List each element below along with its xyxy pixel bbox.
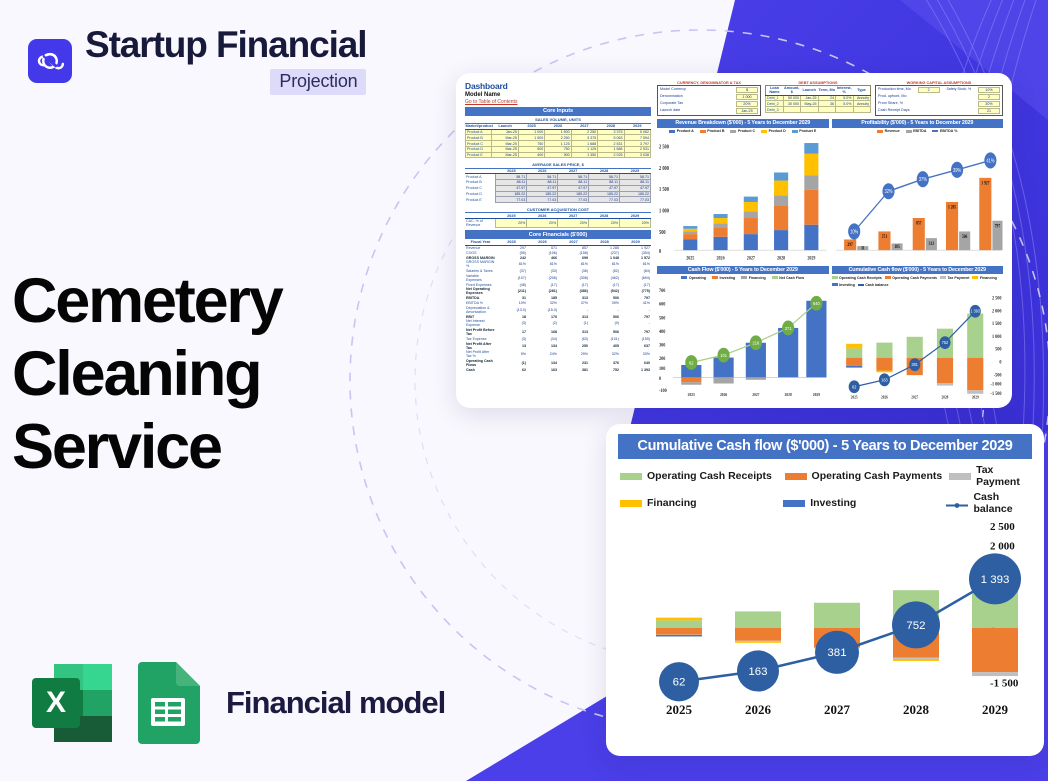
brand-header: Startup Financial Projection	[28, 26, 366, 95]
svg-text:2029: 2029	[971, 396, 978, 400]
legend-swatch	[949, 473, 971, 480]
svg-text:381: 381	[911, 362, 918, 367]
dashboard-charts-column: CURRENCY, DENOMINATOR & TAX Model Curren…	[657, 81, 1003, 400]
assumption-label: Launch date	[660, 108, 680, 114]
legend-item: Product B	[700, 129, 725, 133]
assumption-value[interactable]: 10%	[978, 87, 1000, 93]
svg-text:2025: 2025	[686, 256, 695, 262]
table-row: Product E 77.03 77.03 77.03 77.03 77.03	[465, 197, 651, 203]
svg-text:2 500: 2 500	[990, 522, 1015, 533]
assumption-value[interactable]: 20%	[736, 101, 758, 107]
svg-text:297: 297	[847, 241, 853, 247]
chart-legend: Product A Product B Product C Product D …	[657, 128, 829, 135]
legend-swatch	[620, 500, 642, 507]
legend-item: Operating Cash Receipts	[832, 276, 882, 280]
google-sheets-icon	[132, 662, 204, 744]
svg-text:0: 0	[659, 377, 662, 382]
legend-item: Revenue	[877, 129, 899, 133]
title-line-1: Cemetery	[12, 266, 282, 336]
svg-text:700: 700	[659, 289, 666, 294]
dashboard-inputs-column: Dashboard Model Name Go to Table of Cont…	[465, 81, 651, 400]
chart-legend: Operating Investing Financing Net Cash F…	[657, 274, 829, 281]
svg-text:163: 163	[881, 377, 888, 382]
assumption-value[interactable]: 30%	[978, 101, 1000, 107]
col-head: Interest, %	[836, 86, 854, 96]
assumption-label: Safety Stock, %	[946, 87, 971, 93]
svg-text:31: 31	[860, 244, 864, 250]
svg-text:62: 62	[852, 384, 857, 389]
chart-title: Cumulative Cash flow ($'000) - 5 Years t…	[832, 266, 1004, 274]
svg-text:2028: 2028	[941, 396, 948, 400]
assumption-value[interactable]: $	[736, 87, 758, 93]
brand-logo-icon	[28, 39, 72, 83]
svg-text:200: 200	[659, 357, 666, 362]
svg-text:10%: 10%	[850, 228, 859, 235]
svg-text:300: 300	[659, 344, 666, 349]
svg-text:2025: 2025	[666, 703, 692, 717]
legend-item: Financing	[972, 276, 996, 280]
legend-item: Investing	[832, 283, 855, 287]
svg-text:1 927: 1 927	[981, 180, 990, 186]
brand-name: Startup Financial	[85, 26, 366, 64]
svg-text:2028: 2028	[785, 392, 792, 397]
svg-text:-100: -100	[659, 389, 667, 394]
svg-text:752: 752	[941, 340, 948, 345]
svg-text:0: 0	[999, 360, 1002, 365]
svg-text:2028: 2028	[777, 256, 786, 262]
svg-text:2025: 2025	[850, 396, 857, 400]
svg-text:2029: 2029	[813, 392, 820, 397]
cac-table: 2025 2026 2027 2028 2029 CAC, % of Reven…	[465, 213, 651, 228]
assumption-label: Prom Share, %	[878, 101, 903, 107]
table-row: GROSS MARGIN %81%81%81%81%81%	[465, 260, 651, 269]
assumption-value[interactable]: 21	[978, 108, 1000, 114]
assumption-label: Corporate Tax	[660, 101, 683, 107]
svg-text:500: 500	[659, 229, 666, 236]
svg-text:500: 500	[995, 347, 1002, 352]
mini-chart-revenue-breakdown[interactable]: Revenue Breakdown ($'000) - 5 Years to D…	[657, 119, 829, 263]
working-capital-box: Production time, Mo 2 Safety Stock, % 10…	[875, 85, 1003, 116]
table-row: Net Profit After Tax %5%24%29%32%33%	[465, 350, 651, 359]
svg-text:2 500: 2 500	[659, 143, 669, 150]
chart-legend: Operating Cash Receipts Operating Cash P…	[618, 459, 1032, 520]
svg-text:41%: 41%	[986, 157, 995, 164]
chart-title: Cumulative Cash flow ($'000) - 5 Years t…	[618, 434, 1032, 459]
svg-text:857: 857	[916, 220, 922, 226]
chart-plot: 700600500400 3002001000-100	[657, 281, 829, 400]
bar-group-2025	[656, 618, 702, 637]
table-row: Net Profit After Tax13134250405637	[465, 341, 651, 350]
legend-item: Operating	[681, 276, 705, 280]
table-row: Net Profit Before Tax17168313506797	[465, 328, 651, 337]
legend-item: EBITDA %	[932, 129, 957, 133]
legend-item: Product D	[761, 129, 786, 133]
svg-text:1 500: 1 500	[659, 186, 669, 193]
assumption-label: Cash Receipt Days	[878, 108, 910, 114]
average-price-table: 2025 2026 2027 2028 2029 Product A 58.71…	[465, 169, 651, 204]
svg-text:-1 000: -1 000	[990, 382, 1002, 387]
microsoft-excel-icon: X	[30, 662, 114, 744]
svg-text:752: 752	[906, 620, 925, 632]
svg-text:571: 571	[881, 233, 886, 239]
svg-text:797: 797	[994, 222, 1000, 228]
col-head: Amount, $	[783, 86, 801, 96]
svg-text:2027: 2027	[747, 256, 756, 262]
mini-chart-cumulative-cash-flow[interactable]: Cumulative Cash flow ($'000) - 5 Years t…	[832, 266, 1004, 400]
svg-text:640: 640	[813, 301, 820, 306]
svg-text:-1 500: -1 500	[990, 391, 1002, 396]
legend-swatch	[620, 473, 642, 480]
svg-text:101: 101	[720, 353, 727, 358]
legend-swatch	[783, 500, 805, 507]
legend-item: Investing	[712, 276, 735, 280]
sales-volume-title: SALES VOLUME, UNITS	[465, 117, 651, 124]
col-head: Type	[853, 86, 871, 96]
assumption-value[interactable]: 2	[918, 87, 940, 93]
svg-text:371: 371	[785, 326, 792, 331]
legend-item: EBITDA	[906, 129, 927, 133]
page-title: Cemetery Cleaning Service	[12, 265, 412, 484]
svg-text:1 393: 1 393	[981, 574, 1010, 586]
legend-item: Operating Cash Payments	[885, 276, 937, 280]
col-head: Launch	[801, 86, 819, 96]
svg-text:-500: -500	[993, 372, 1001, 377]
avg-price-title: AVERAGE SALES PRICE, $	[465, 161, 651, 168]
legend-item: Cash balance	[858, 283, 889, 287]
dashboard-model-name: Model Name	[465, 92, 651, 98]
table-row: Variable Expenses(107)(206)(308)(462)(69…	[465, 274, 651, 283]
legend-item-financing: Financing	[620, 491, 783, 515]
assumption-label: Production time, Mo	[878, 87, 911, 93]
chart-legend: Revenue EBITDA EBITDA %	[832, 128, 1004, 135]
chart-plot: 2 5002 0001 500 1 0005000	[657, 135, 829, 264]
chart-plot: 2 5002 0001 500 1 0005000 -500-1 000-1 5…	[832, 288, 1004, 400]
title-line-3: Service	[12, 412, 221, 482]
legend-item: Tax Payment	[940, 276, 969, 280]
svg-text:2026: 2026	[717, 256, 726, 262]
svg-text:313: 313	[928, 240, 933, 246]
assumption-value[interactable]: 2	[978, 94, 1000, 100]
svg-text:100: 100	[659, 367, 666, 372]
brand-subtitle: Projection	[270, 69, 366, 96]
svg-text:62: 62	[673, 677, 686, 689]
legend-item-tax-payment: Tax Payment	[949, 464, 1030, 488]
cumulative-cash-flow-card[interactable]: Cumulative Cash flow ($'000) - 5 Years t…	[606, 424, 1044, 756]
svg-text:2 000: 2 000	[990, 541, 1015, 553]
assumption-value[interactable]: 1 000	[736, 94, 758, 100]
svg-text:400: 400	[659, 330, 666, 335]
svg-text:600: 600	[659, 303, 666, 308]
table-row: Net Operating Expenses(211)(281)(386)(54…	[465, 287, 651, 296]
svg-text:218: 218	[753, 341, 760, 346]
svg-text:X: X	[46, 686, 66, 719]
svg-text:32%: 32%	[884, 188, 893, 195]
svg-text:185: 185	[894, 243, 899, 249]
legend-item: Financing	[741, 276, 765, 280]
dashboard-preview-card[interactable]: Dashboard Model Name Go to Table of Cont…	[456, 73, 1012, 408]
bar-group-2026	[735, 611, 781, 642]
chart-plot: 10%32%37% 39%41% 297571857 1 2851 927 31…	[832, 135, 1004, 264]
dashboard-heading: Dashboard	[465, 81, 651, 91]
svg-text:62: 62	[689, 360, 694, 365]
footer-label: Financial model	[226, 685, 445, 721]
chart-plot-area: 2 500 2 000 1 500 1 000 500 0 -500 -1 00…	[618, 522, 1032, 718]
legend-item: Net Cash Flow	[772, 276, 804, 280]
svg-text:-1 500: -1 500	[990, 678, 1019, 690]
svg-text:2 000: 2 000	[659, 165, 669, 172]
cac-title: CUSTOMER ACQUISITION COST	[465, 206, 651, 213]
assumption-label: Model Currency	[660, 87, 686, 93]
svg-text:2026: 2026	[881, 396, 888, 400]
svg-text:2027: 2027	[824, 703, 851, 717]
assumption-label: Prod. upfront, Mo	[878, 94, 907, 100]
svg-text:1 285: 1 285	[947, 204, 955, 210]
assumption-value[interactable]: Jan-25	[736, 108, 758, 114]
svg-text:2029: 2029	[982, 703, 1008, 717]
legend-item: Product E	[792, 129, 816, 133]
legend-item: Product A	[669, 129, 694, 133]
table-row: Product E Mar-25 400 900 1 350 2 025 3 0…	[466, 152, 651, 158]
legend-item-operating-cash-payments: Operating Cash Payments	[785, 464, 950, 488]
chart-title: Revenue Breakdown ($'000) - 5 Years to D…	[657, 119, 829, 127]
svg-text:39%: 39%	[953, 167, 962, 174]
svg-text:2027: 2027	[752, 392, 759, 397]
chart-legend: Operating Cash Receipts Operating Cash P…	[832, 274, 1004, 288]
mini-chart-profitability[interactable]: Profitability ($'000) - 5 Years to Decem…	[832, 119, 1004, 263]
legend-swatch	[785, 473, 807, 480]
sales-volume-table: Market/product Launch 2025 2026 2027 202…	[465, 124, 651, 159]
svg-text:2029: 2029	[807, 256, 816, 262]
svg-text:2 500: 2 500	[991, 296, 1001, 301]
table-row: Depreciation & Amortization(13.0)(15.0)-…	[465, 305, 651, 314]
table-row: Operating Cash Flows(1)134231376640	[465, 359, 651, 368]
svg-text:2025: 2025	[688, 392, 695, 397]
chart-title: Cash Flow ($'000) - 5 Years to December …	[657, 266, 829, 274]
svg-text:2027: 2027	[911, 396, 918, 400]
mini-chart-cash-flow[interactable]: Cash Flow ($'000) - 5 Years to December …	[657, 266, 829, 400]
x-axis-labels: 2025 2026 2027 2028 2029	[666, 703, 1008, 717]
legend-line-marker	[946, 500, 968, 507]
core-financials-table: Fiscal Year 2025 2026 2027 2028 2029 Rev…	[465, 240, 651, 372]
table-row: Net Interest Expense(3)(2)(1)(0)-	[465, 319, 651, 328]
svg-text:1 000: 1 000	[991, 334, 1001, 339]
svg-text:381: 381	[827, 647, 846, 659]
assumption-label: Denomination	[660, 94, 683, 100]
debt-assumptions-table: Loan Name Amount, $ Launch Term, Mo Inte…	[765, 85, 871, 113]
svg-text:1 500: 1 500	[991, 321, 1001, 326]
core-inputs-band: Core Inputs	[465, 107, 651, 116]
svg-text:2026: 2026	[720, 392, 727, 397]
svg-text:506: 506	[961, 233, 966, 239]
legend-item-cash-balance: Cash balance	[946, 491, 1030, 515]
table-of-contents-link[interactable]: Go to Table of Contents	[465, 99, 651, 105]
svg-text:1 000: 1 000	[659, 208, 669, 215]
svg-text:2028: 2028	[903, 703, 929, 717]
legend-item: Product C	[730, 129, 755, 133]
footer-bar: X Financial model	[30, 662, 445, 744]
chart-title: Profitability ($'000) - 5 Years to Decem…	[832, 119, 1004, 127]
svg-text:1 393: 1 393	[970, 309, 980, 314]
svg-text:2 000: 2 000	[991, 309, 1001, 314]
legend-item-operating-cash-receipts: Operating Cash Receipts	[620, 464, 785, 488]
svg-text:0: 0	[659, 248, 662, 255]
svg-text:163: 163	[748, 666, 767, 678]
table-row: CAC, % of Revenue 20% 20% 20% 20% 20%	[465, 218, 651, 227]
svg-text:2026: 2026	[745, 703, 772, 717]
svg-text:37%: 37%	[918, 176, 927, 183]
legend-item-investing: Investing	[783, 491, 946, 515]
table-row: Debt_3	[766, 107, 871, 113]
table-row: Cash621633817521 393	[465, 368, 651, 373]
core-financials-band: Core Financials ($'000)	[465, 230, 651, 239]
col-head: Loan Name	[766, 86, 784, 96]
title-line-2: Cleaning	[12, 339, 260, 409]
currency-assumptions-box: Model Currency$ Denomination1 000 Corpor…	[657, 85, 761, 116]
col-head: Term, Mo	[818, 86, 836, 96]
svg-text:500: 500	[659, 316, 666, 321]
